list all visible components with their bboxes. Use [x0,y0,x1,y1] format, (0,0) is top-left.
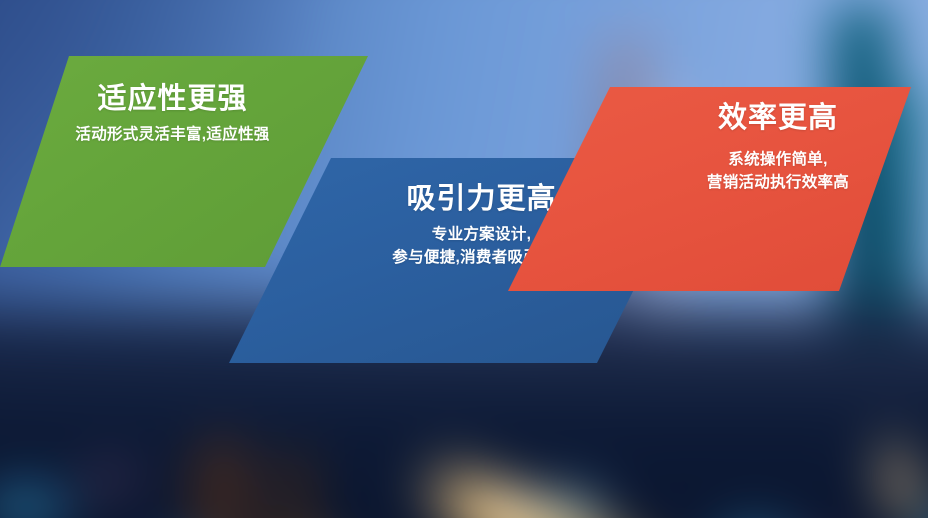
panel-content-adaptability: 适应性更强 活动形式灵活丰富,适应性强 [45,82,300,146]
panel-content-efficiency: 效率更高 系统操作简单, 营销活动执行效率高 [668,101,888,194]
background-light-streak [275,449,315,518]
panel-subtitle-efficiency-line-2: 营销活动执行效率高 [668,171,888,194]
background-light-streak [868,421,928,518]
panel-title-adaptability: 适应性更强 [45,82,300,117]
background-light-streak [695,513,815,518]
panel-title-efficiency: 效率更高 [668,101,888,136]
background-light-streak [192,437,252,518]
panel-subtitle-efficiency-line-1: 系统操作简单, [668,148,888,171]
infographic-banner: 适应性更强 活动形式灵活丰富,适应性强 吸引力更高 专业方案设计, 参与便捷,消… [0,0,928,518]
panel-subtitle-adaptability-line-1: 活动形式灵活丰富,适应性强 [45,123,300,146]
feature-panel-efficiency[interactable]: 效率更高 系统操作简单, 营销活动执行效率高 [508,87,912,291]
background-light-streak [76,455,146,505]
